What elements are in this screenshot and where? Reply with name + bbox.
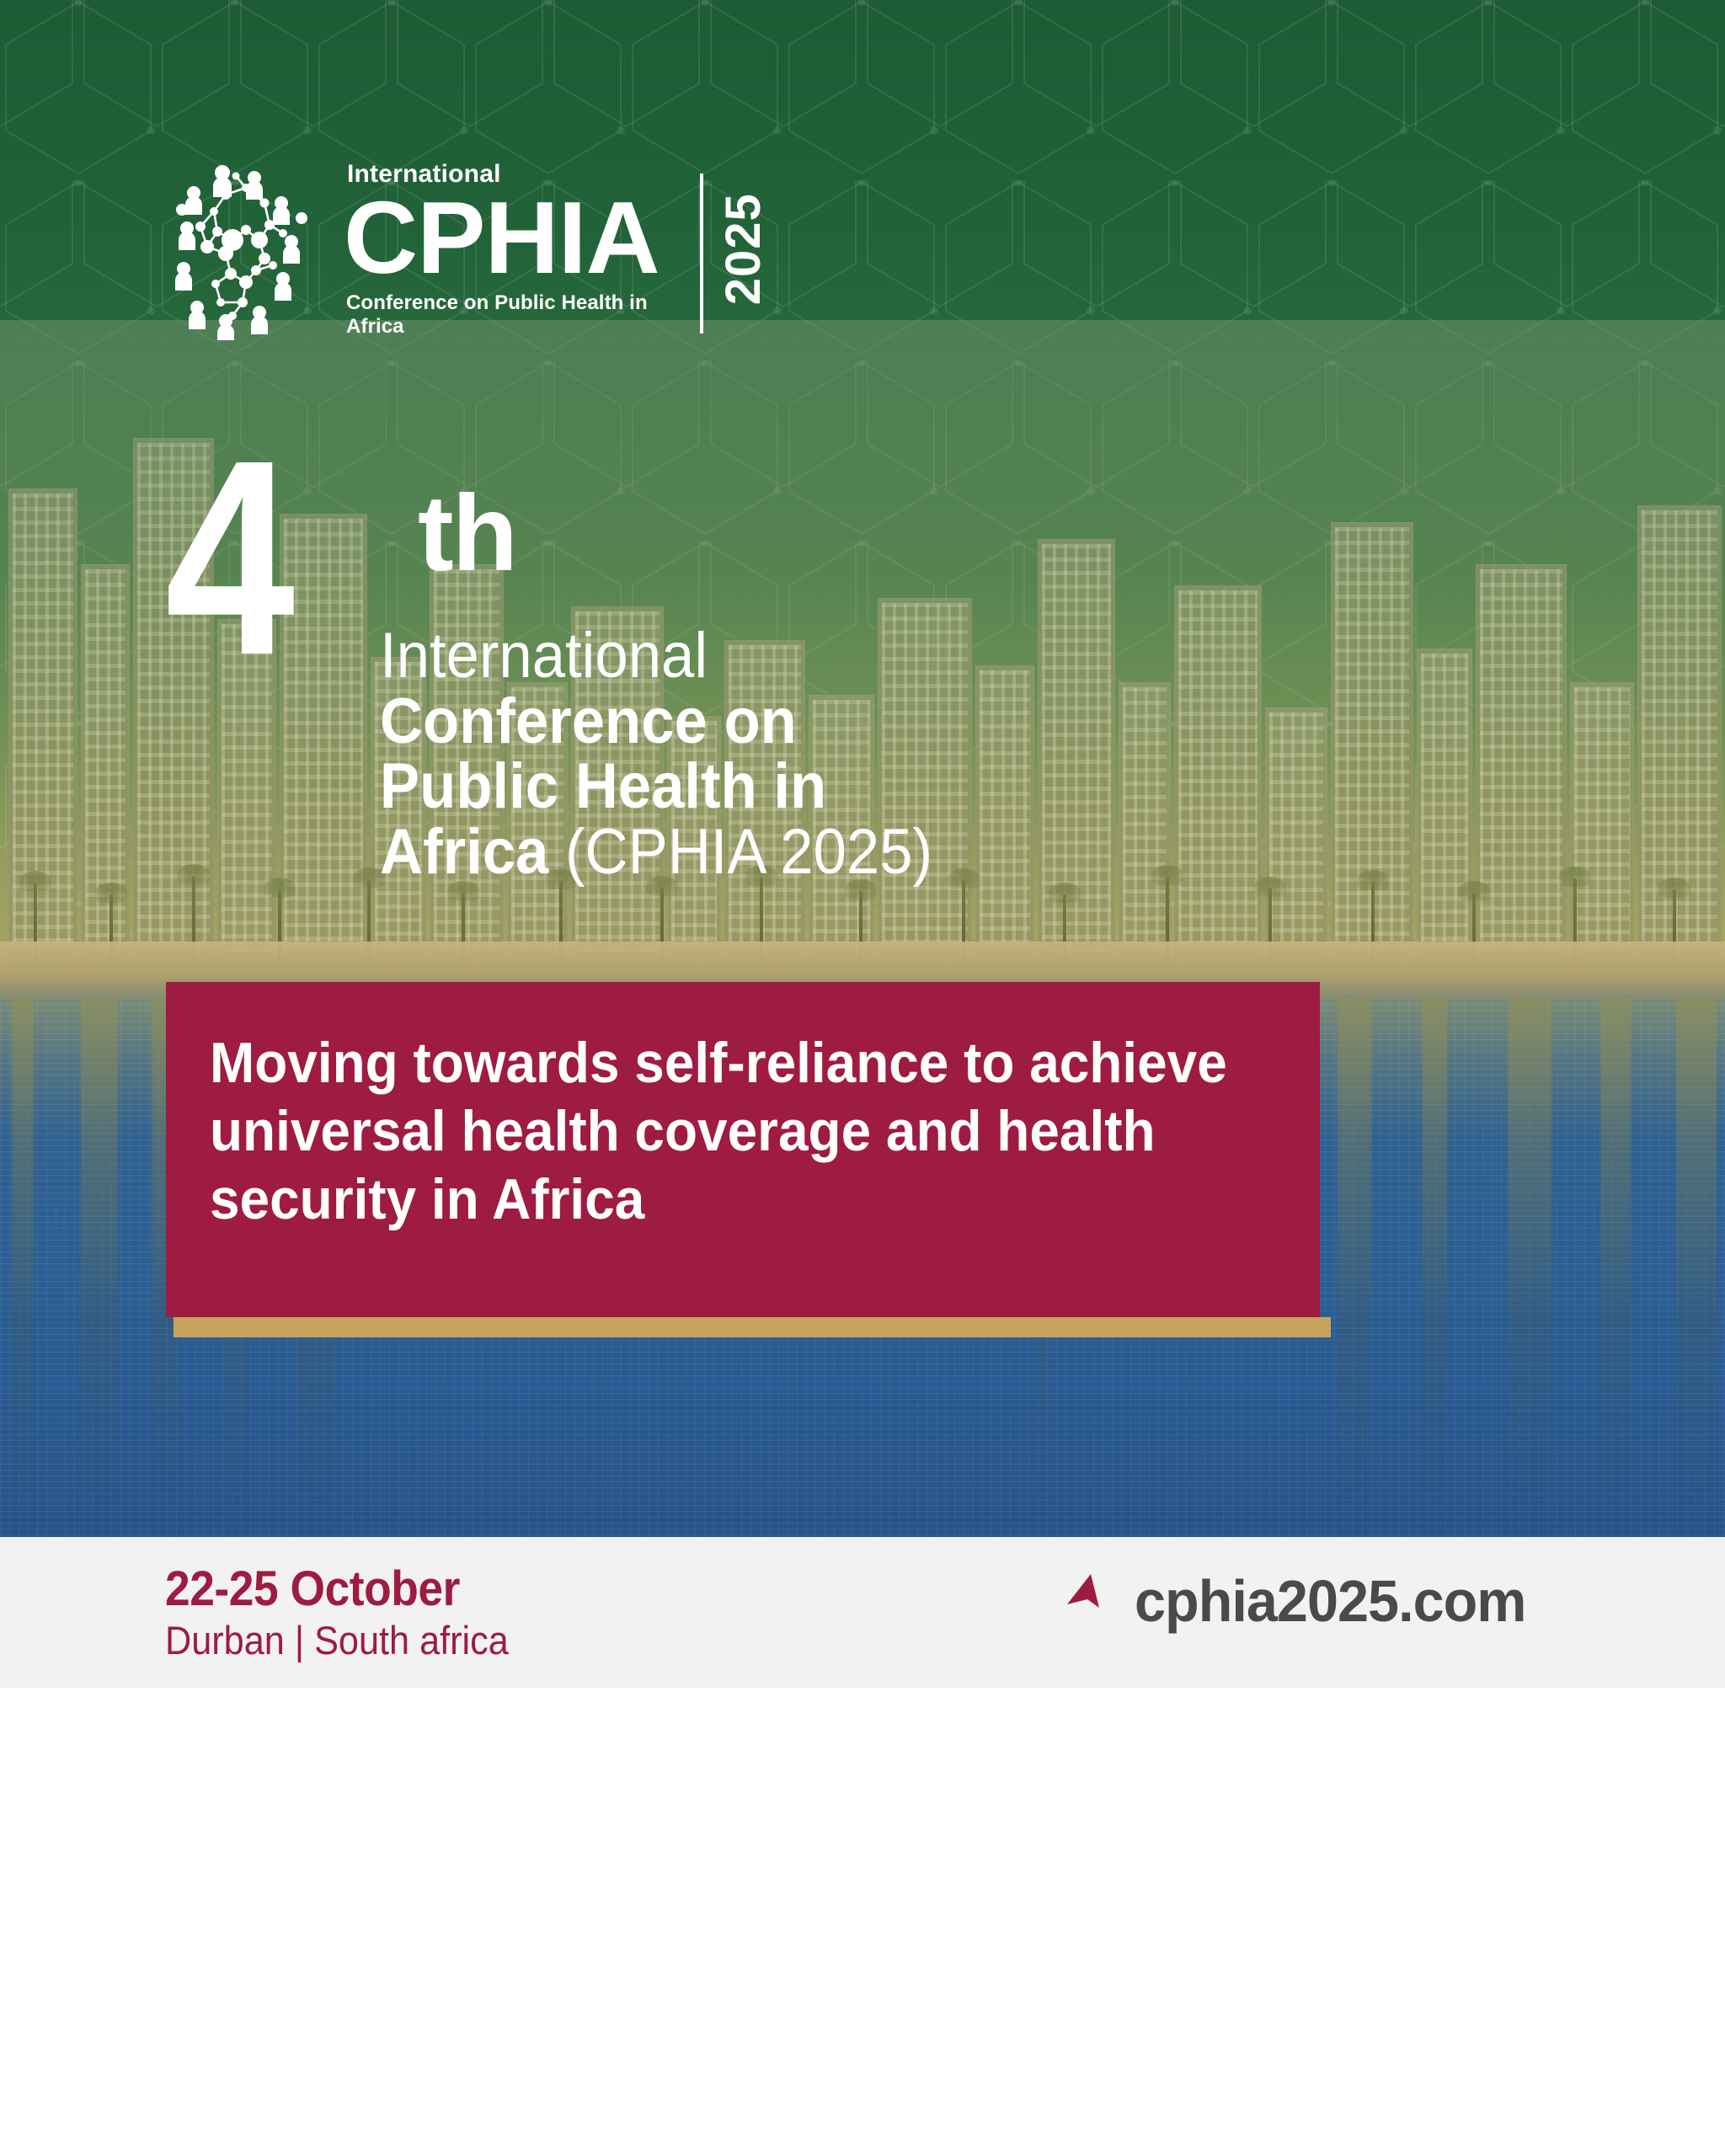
edition-ordinal-suffix: th [418,472,516,595]
crimson-triangle-arrow-icon [1065,1571,1113,1618]
event-info-strip: 22-25 October Durban | South africa cphi… [0,1537,1725,1688]
title-line-3: Public Health in [380,754,932,819]
event-location: Durban | South africa [165,1619,509,1663]
theme-banner: Moving towards self-reliance to achieve … [166,982,1320,1317]
cphia-logo: International CPHIA Conference on Public… [165,157,772,342]
logo-wordmark: International CPHIA Conference on Public… [344,160,772,339]
title-line-4-bold: Africa [380,816,548,888]
theme-gold-underline [174,1317,1331,1337]
partner-logo-row: AfricaCDC Centres for Disease Control an… [0,1688,1725,2156]
conference-poster: International CPHIA Conference on Public… [0,0,1725,2156]
title-line-1: International [380,623,932,689]
edition-number: 4 [165,446,285,669]
logo-year: 2025 [715,160,772,339]
logo-acronym: CPHIA [344,190,688,285]
theme-text: Moving towards self-reliance to achieve … [210,1029,1239,1234]
logo-tagline: Conference on Public Health in Africa [346,291,688,339]
event-dates-block: 22-25 October Durban | South africa [165,1564,538,1663]
logo-words: International CPHIA Conference on Public… [344,160,688,339]
website-block[interactable]: cphia2025.com [1065,1567,1546,1635]
title-lines: International Conference on Public Healt… [380,623,974,884]
logo-divider [700,173,703,334]
event-dates: 22-25 October [165,1564,509,1615]
title-line-4-acronym: (CPHIA 2025) [565,816,932,888]
africa-network-people-icon [165,159,325,340]
title-line-2: Conference on [380,689,932,755]
hero-banner: International CPHIA Conference on Public… [0,0,1725,1537]
title-line-4: Africa (CPHIA 2025) [380,819,932,885]
website-url[interactable]: cphia2025.com [1135,1567,1525,1635]
